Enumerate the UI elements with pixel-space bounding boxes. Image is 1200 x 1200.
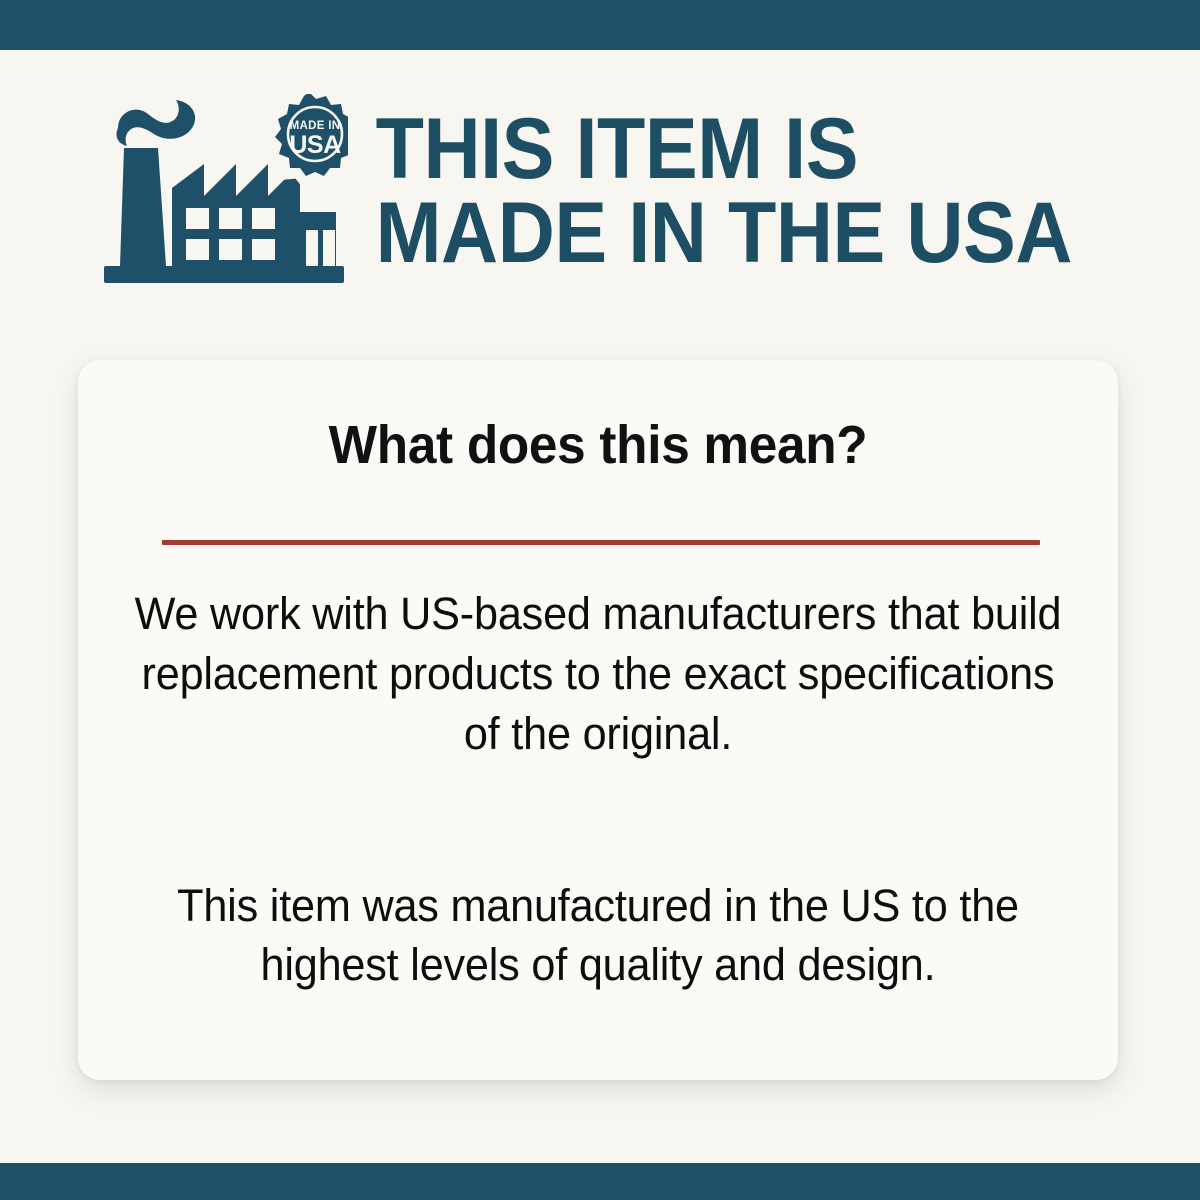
card-heading: What does this mean? (104, 418, 1092, 472)
card-paragraph-2: This item was manufactured in the US to … (128, 876, 1069, 996)
card-body: We work with US-based manufacturers that… (108, 584, 1088, 995)
page-title-line-1: THIS ITEM IS (376, 107, 1072, 191)
explanation-card: What does this mean? We work with US-bas… (78, 360, 1118, 1080)
bottom-accent-band (0, 1163, 1200, 1200)
made-in-usa-infographic: MADE IN USA THIS ITEM IS MADE IN THE USA… (0, 0, 1200, 1200)
card-divider (162, 540, 1040, 545)
page-title-line-2: MADE IN THE USA (376, 191, 1072, 275)
factory-made-in-usa-icon: MADE IN USA (100, 94, 348, 289)
page-title: THIS ITEM IS MADE IN THE USA (348, 107, 1072, 276)
header: MADE IN USA THIS ITEM IS MADE IN THE USA (0, 86, 1200, 296)
top-accent-band (0, 0, 1200, 50)
badge-usa-text: USA (289, 131, 341, 159)
card-paragraph-1: We work with US-based manufacturers that… (128, 584, 1069, 764)
